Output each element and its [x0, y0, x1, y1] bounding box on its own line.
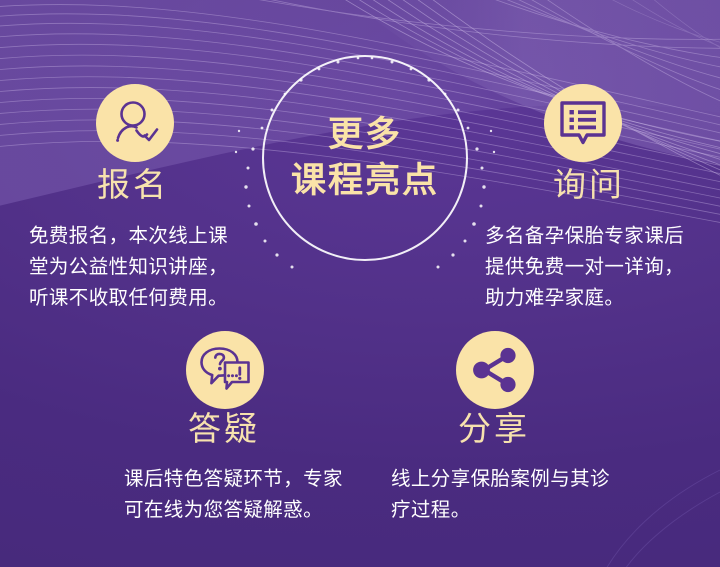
user-check-icon [108, 96, 162, 150]
message-list-icon [557, 97, 609, 149]
qa-icon-badge [186, 331, 264, 409]
promo-poster: 更多 课程亮点 报名 免费报名，本次线上课堂为公益性知识讲座，听课不收取任何费用… [0, 0, 720, 567]
share-nodes-icon [470, 345, 520, 395]
qa-body: 课后特色答疑环节，专家可在线为您答疑解惑。 [124, 464, 344, 526]
question-answer-bubbles-icon [198, 345, 252, 395]
inquiry-icon-badge [544, 84, 622, 162]
qa-title: 答疑 [188, 412, 260, 445]
signup-body: 免费报名，本次线上课堂为公益性知识讲座，听课不收取任何费用。 [29, 221, 244, 314]
inquiry-title: 询问 [553, 168, 625, 201]
share-title: 分享 [458, 412, 530, 445]
center-headline-line1: 更多 [262, 112, 468, 158]
share-icon-badge [456, 331, 534, 409]
inquiry-body: 多名备孕保胎专家课后提供免费一对一详询，助力难孕家庭。 [485, 221, 701, 314]
signup-title: 报名 [97, 168, 169, 201]
center-headline: 更多 课程亮点 [262, 112, 468, 204]
share-body: 线上分享保胎案例与其诊疗过程。 [391, 464, 613, 526]
signup-icon-badge [96, 84, 174, 162]
center-headline-line2: 课程亮点 [262, 158, 468, 204]
